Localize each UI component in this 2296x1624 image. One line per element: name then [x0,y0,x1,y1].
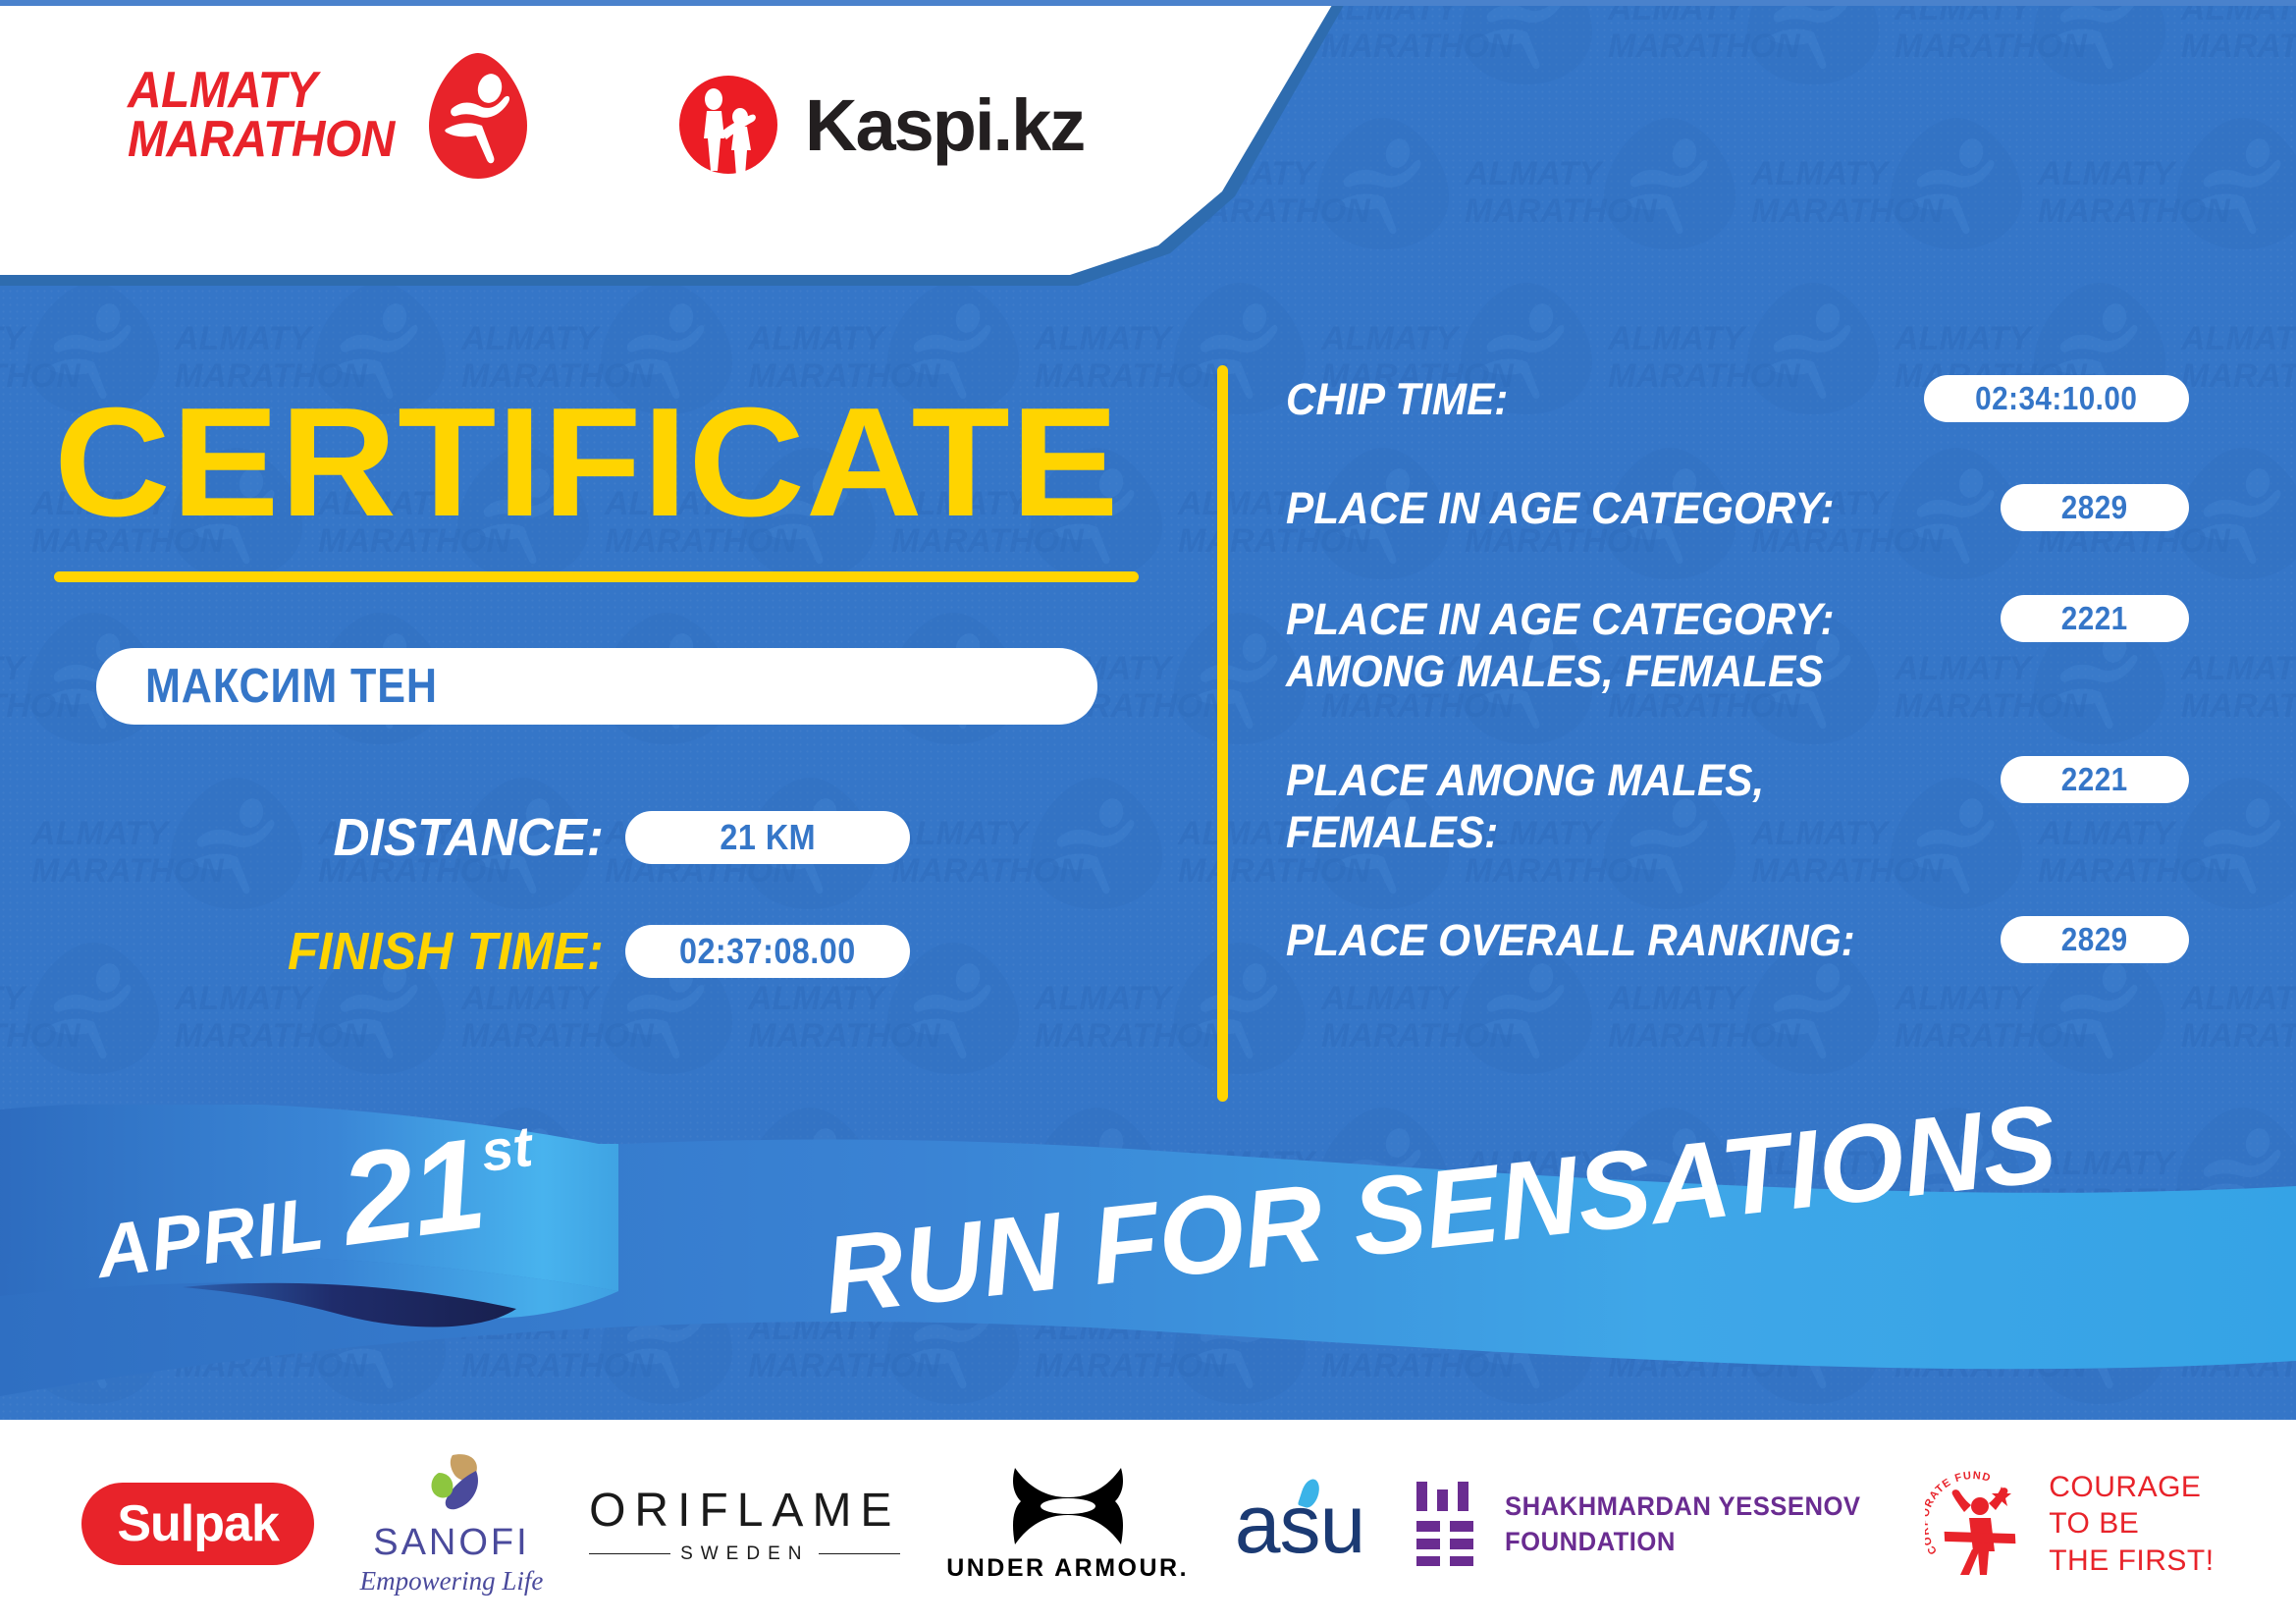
column-divider [1217,365,1228,1102]
stat-label: CHIP TIME: [1286,373,1871,425]
corporate-fund-runner-icon: CORPORATE FUND [1925,1469,2035,1579]
oriflame-rule-left [589,1553,670,1554]
yessenov-wordmark: SHAKHMARDAN YESSENOV FOUNDATION [1505,1489,1860,1560]
distance-label: DISTANCE: [287,807,604,868]
sulpak-wordmark: Sulpak [117,1494,279,1553]
oriflame-rule-right [819,1553,900,1554]
stat-value: 2221 [2061,761,2128,798]
stat-label: PLACE IN AGE CATEGORY: [1286,482,1943,534]
participant-name-field[interactable]: МАКСИМ ТЕН [96,648,1097,725]
sponsor-logo-sulpak: Sulpak [81,1483,314,1565]
sponsor-logo-corporate-fund: CORPORATE FUND COURAGE TO BE THE FIRST! [1925,1469,2214,1580]
almaty-marathon-wordmark: ALMATY MARATHON [128,67,395,165]
stat-value-pill: 2829 [2001,484,2189,531]
sponsor-logo-asu: asu [1235,1483,1364,1565]
stat-row: CHIP TIME: 02:34:10.00 [1286,373,2189,425]
finish-time-label: FINISH TIME: [287,921,604,982]
under-armour-icon [1007,1466,1129,1546]
sanofi-tagline: Empowering Life [360,1566,544,1597]
stat-value-pill: 2221 [2001,595,2189,642]
distance-value-pill: 21 KM [625,811,910,864]
stat-row: PLACE OVERALL RANKING: 2829 [1286,914,2189,966]
almaty-marathon-logo: ALMATY MARATHON [128,51,533,181]
sanofi-wordmark: SANOFI [373,1522,529,1564]
sponsor-logo-yessenov: SHAKHMARDAN YESSENOV FOUNDATION [1411,1482,1880,1566]
sponsor-logo-under-armour: UNDER ARMOUR. [946,1466,1189,1583]
distance-row: DISTANCE: 21 KM [270,807,910,868]
sponsor-bar: Sulpak SANOFI Empowering Life ORIFLAME S… [0,1424,2296,1624]
event-month: APRIL [91,1180,329,1295]
stats-panel: CHIP TIME: 02:34:10.00 PLACE IN AGE CATE… [1286,373,2189,1000]
almaty-marathon-line1: ALMATY [128,67,395,116]
participant-name-value: МАКСИМ ТЕН [145,659,438,714]
stat-row: PLACE IN AGE CATEGORY: 2829 [1286,482,2189,534]
page-title: CERTIFICATE [54,385,1120,540]
stat-value: 02:34:10.00 [1975,380,2137,417]
yessenov-bars-icon [1411,1482,1479,1566]
sponsor-logo-oriflame: ORIFLAME SWEDEN [589,1484,900,1565]
finish-time-row: FINISH TIME: 02:37:08.00 [270,921,910,982]
oriflame-country: SWEDEN [680,1543,809,1565]
stat-value: 2221 [2061,600,2128,637]
stat-row: PLACE IN AGE CATEGORY: AMONG MALES, FEMA… [1286,593,2189,697]
stat-label: PLACE AMONG MALES, FEMALES: [1286,754,1943,858]
finish-time-value: 02:37:08.00 [679,931,856,972]
title-underline [54,571,1139,582]
sanofi-leaf-icon [409,1451,494,1518]
top-rule [0,0,2296,6]
stat-label: PLACE IN AGE CATEGORY: AMONG MALES, FEMA… [1286,593,1943,697]
oriflame-wordmark: ORIFLAME [589,1484,900,1538]
stat-row: PLACE AMONG MALES, FEMALES: 2221 [1286,754,2189,858]
distance-value: 21 KM [720,817,816,858]
stat-value: 2829 [2061,921,2128,958]
finish-time-value-pill: 02:37:08.00 [625,925,910,978]
under-armour-wordmark: UNDER ARMOUR. [946,1554,1189,1583]
stat-value-pill: 2829 [2001,916,2189,963]
almaty-marathon-runner-icon [423,51,533,181]
oriflame-sub: SWEDEN [589,1543,900,1565]
corporate-fund-tagline: COURAGE TO BE THE FIRST! [2049,1469,2214,1580]
event-day: 21 [333,1109,491,1273]
event-day-ordinal: st [477,1113,536,1185]
sponsor-logo-sanofi: SANOFI Empowering Life [360,1451,544,1597]
certificate-page: ALMATYMARATHONALMATYMARATHONALMATYMARATH… [0,0,2296,1624]
stat-value: 2829 [2061,489,2128,526]
kaspi-wordmark: Kaspi.kz [805,83,1084,167]
stat-value-pill: 02:34:10.00 [1924,375,2189,422]
stat-label: PLACE OVERALL RANKING: [1286,914,1943,966]
stat-value-pill: 2221 [2001,756,2189,803]
kaspi-people-icon [677,74,779,176]
almaty-marathon-line2: MARATHON [128,116,395,165]
kaspi-logo: Kaspi.kz [677,74,1084,176]
